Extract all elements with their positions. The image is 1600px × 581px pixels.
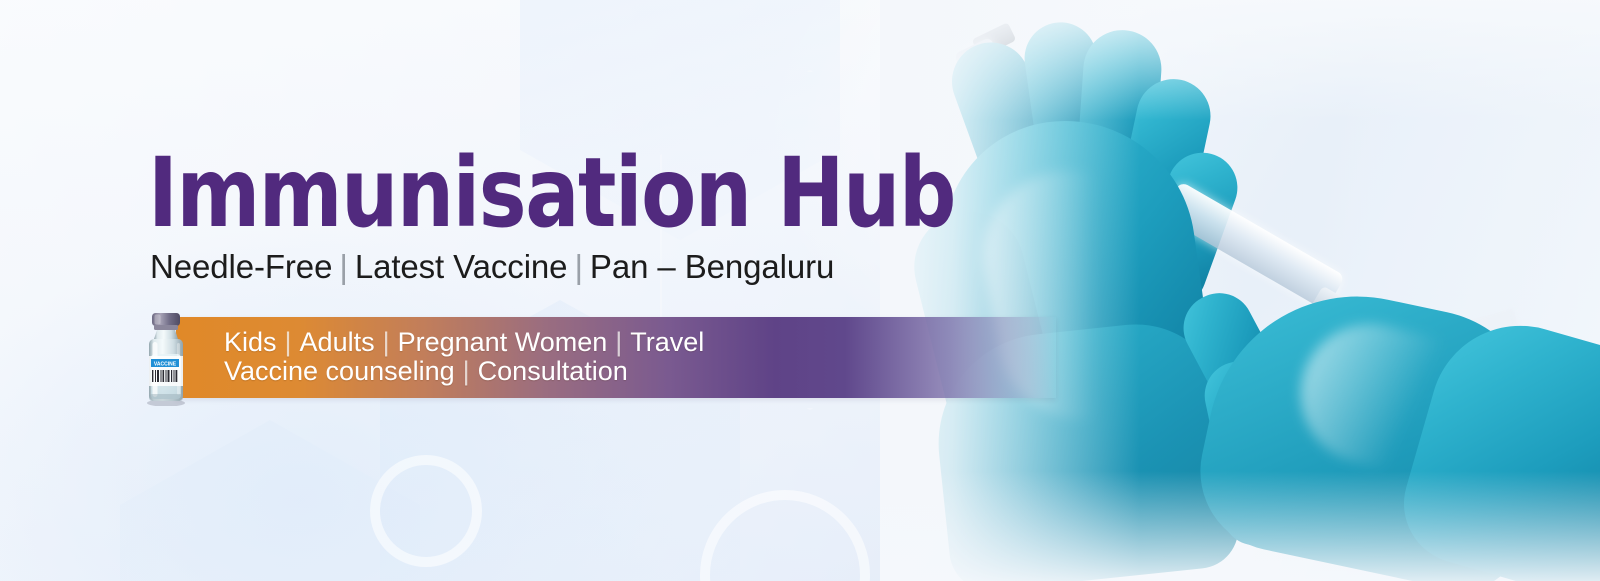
services-bar: Kids|Adults|Pregnant Women|Travel Vaccin… — [176, 317, 1056, 398]
subtitle-part-pan-bengaluru: Pan – Bengaluru — [590, 248, 834, 285]
subtitle-separator: | — [567, 248, 589, 286]
service-separator: | — [607, 328, 630, 357]
service-item-travel[interactable]: Travel — [630, 327, 704, 357]
service-item-vaccine-counseling[interactable]: Vaccine counseling — [224, 356, 455, 386]
service-separator: | — [277, 328, 300, 357]
service-item-consultation[interactable]: Consultation — [478, 356, 628, 386]
immunisation-hub-banner: Immunisation Hub Needle-Free|Latest Vacc… — [0, 0, 1600, 581]
service-item-kids[interactable]: Kids — [224, 327, 277, 357]
service-item-adults[interactable]: Adults — [300, 327, 375, 357]
services-line-1: Kids|Adults|Pregnant Women|Travel — [224, 328, 704, 357]
service-separator: | — [455, 357, 478, 386]
service-item-pregnant-women[interactable]: Pregnant Women — [398, 327, 608, 357]
services-list: Kids|Adults|Pregnant Women|Travel Vaccin… — [224, 328, 704, 385]
subtitle-part-latest-vaccine: Latest Vaccine — [355, 248, 568, 285]
subtitle-separator: | — [332, 248, 354, 286]
service-separator: | — [375, 328, 398, 357]
circle-decoration — [370, 455, 482, 567]
gloved-hands-icon — [880, 0, 1600, 581]
banner-subtitle: Needle-Free|Latest Vaccine|Pan – Bengalu… — [150, 248, 834, 286]
subtitle-part-needle-free: Needle-Free — [150, 248, 332, 285]
vial-label-text: VACCINE — [154, 361, 177, 367]
page-title: Immunisation Hub — [148, 152, 955, 235]
vaccine-vial-icon: VACCINE — [140, 310, 192, 406]
services-line-2: Vaccine counseling|Consultation — [224, 357, 704, 386]
